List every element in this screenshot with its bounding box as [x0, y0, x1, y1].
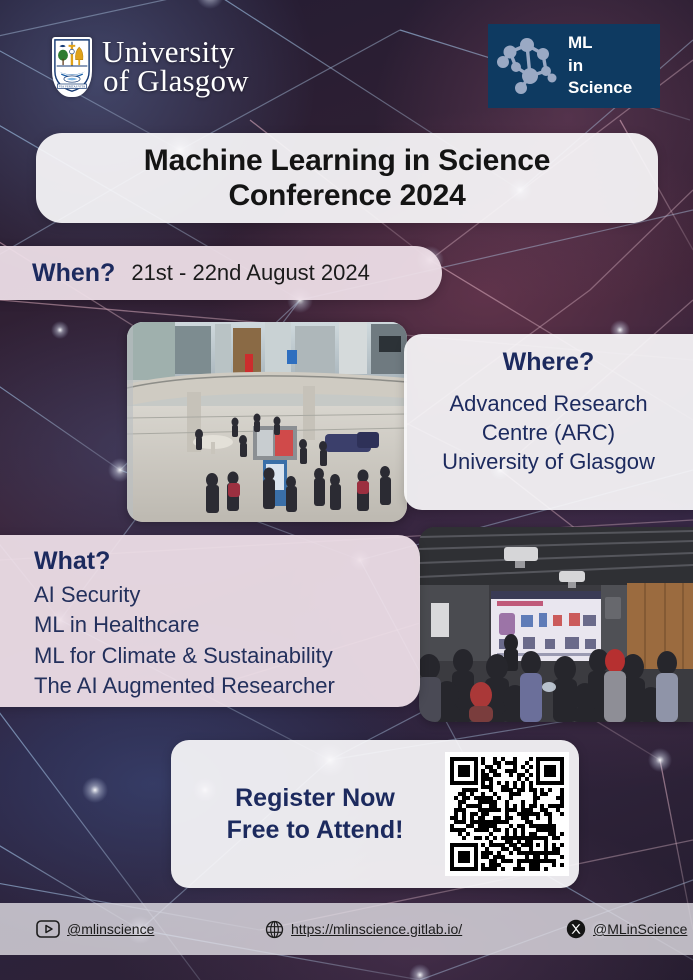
- what-card: What? AI Security ML in Healthcare ML fo…: [0, 535, 420, 707]
- where-label: Where?: [420, 348, 677, 377]
- website-url[interactable]: https://mlinscience.gitlab.io/: [291, 921, 462, 937]
- what-topic: ML for Climate & Sustainability: [34, 641, 406, 671]
- x-twitter-icon: [566, 919, 586, 939]
- where-card: Where? Advanced Research Centre (ARC) Un…: [404, 334, 693, 510]
- arc-atrium-photo: [127, 322, 407, 522]
- title-line-2: Conference 2024: [228, 178, 465, 213]
- logo-line-2: in: [568, 55, 632, 78]
- register-line-2: Free to Attend!: [185, 814, 445, 847]
- ml-in-science-logo: ML in Science: [488, 24, 660, 108]
- youtube-handle[interactable]: @mlinscience: [67, 921, 154, 937]
- conference-lecture-hall-photo: [419, 527, 693, 722]
- qr-code-icon[interactable]: [445, 752, 569, 876]
- what-topic: The AI Augmented Researcher: [34, 671, 406, 701]
- molecule-network-icon: [494, 34, 562, 98]
- title-line-1: Machine Learning in Science: [144, 143, 550, 178]
- what-topic: AI Security: [34, 580, 406, 610]
- conference-poster: VIA VERITAS VITA University of Glasgow: [0, 0, 693, 980]
- register-line-1: Register Now: [185, 782, 445, 815]
- university-wordmark: University of Glasgow: [102, 38, 249, 95]
- when-value: 21st - 22nd August 2024: [131, 260, 370, 286]
- footer-youtube-link[interactable]: @mlinscience: [36, 920, 154, 938]
- when-label: When?: [32, 259, 115, 288]
- globe-icon: [265, 920, 284, 939]
- logo-line-1: ML: [568, 32, 632, 55]
- footer-website-link[interactable]: https://mlinscience.gitlab.io/: [265, 920, 462, 939]
- register-text: Register Now Free to Attend!: [171, 782, 445, 847]
- what-topic: ML in Healthcare: [34, 610, 406, 640]
- where-line-3: University of Glasgow: [420, 447, 677, 476]
- when-card: When? 21st - 22nd August 2024: [0, 246, 442, 300]
- university-line-2: of Glasgow: [103, 67, 249, 96]
- where-line-1: Advanced Research: [420, 389, 677, 418]
- twitter-handle[interactable]: @MLinScience: [593, 921, 687, 937]
- register-card[interactable]: Register Now Free to Attend!: [171, 740, 579, 888]
- what-label: What?: [34, 547, 406, 576]
- logo-line-3: Science: [568, 77, 632, 100]
- ml-in-science-wordmark: ML in Science: [568, 32, 632, 100]
- where-line-2: Centre (ARC): [420, 418, 677, 447]
- university-logo: VIA VERITAS VITA University of Glasgow: [52, 32, 252, 102]
- poster-title-card: Machine Learning in Science Conference 2…: [36, 133, 658, 223]
- youtube-play-icon: [36, 920, 60, 938]
- svg-text:VIA VERITAS VITA: VIA VERITAS VITA: [59, 85, 86, 89]
- footer-twitter-link[interactable]: @MLinScience: [566, 919, 687, 939]
- footer-bar: @mlinscience https://mlinscience.gitlab.…: [0, 903, 693, 955]
- uofg-crest-icon: VIA VERITAS VITA: [52, 37, 92, 97]
- qr-code-canvas[interactable]: [450, 757, 564, 871]
